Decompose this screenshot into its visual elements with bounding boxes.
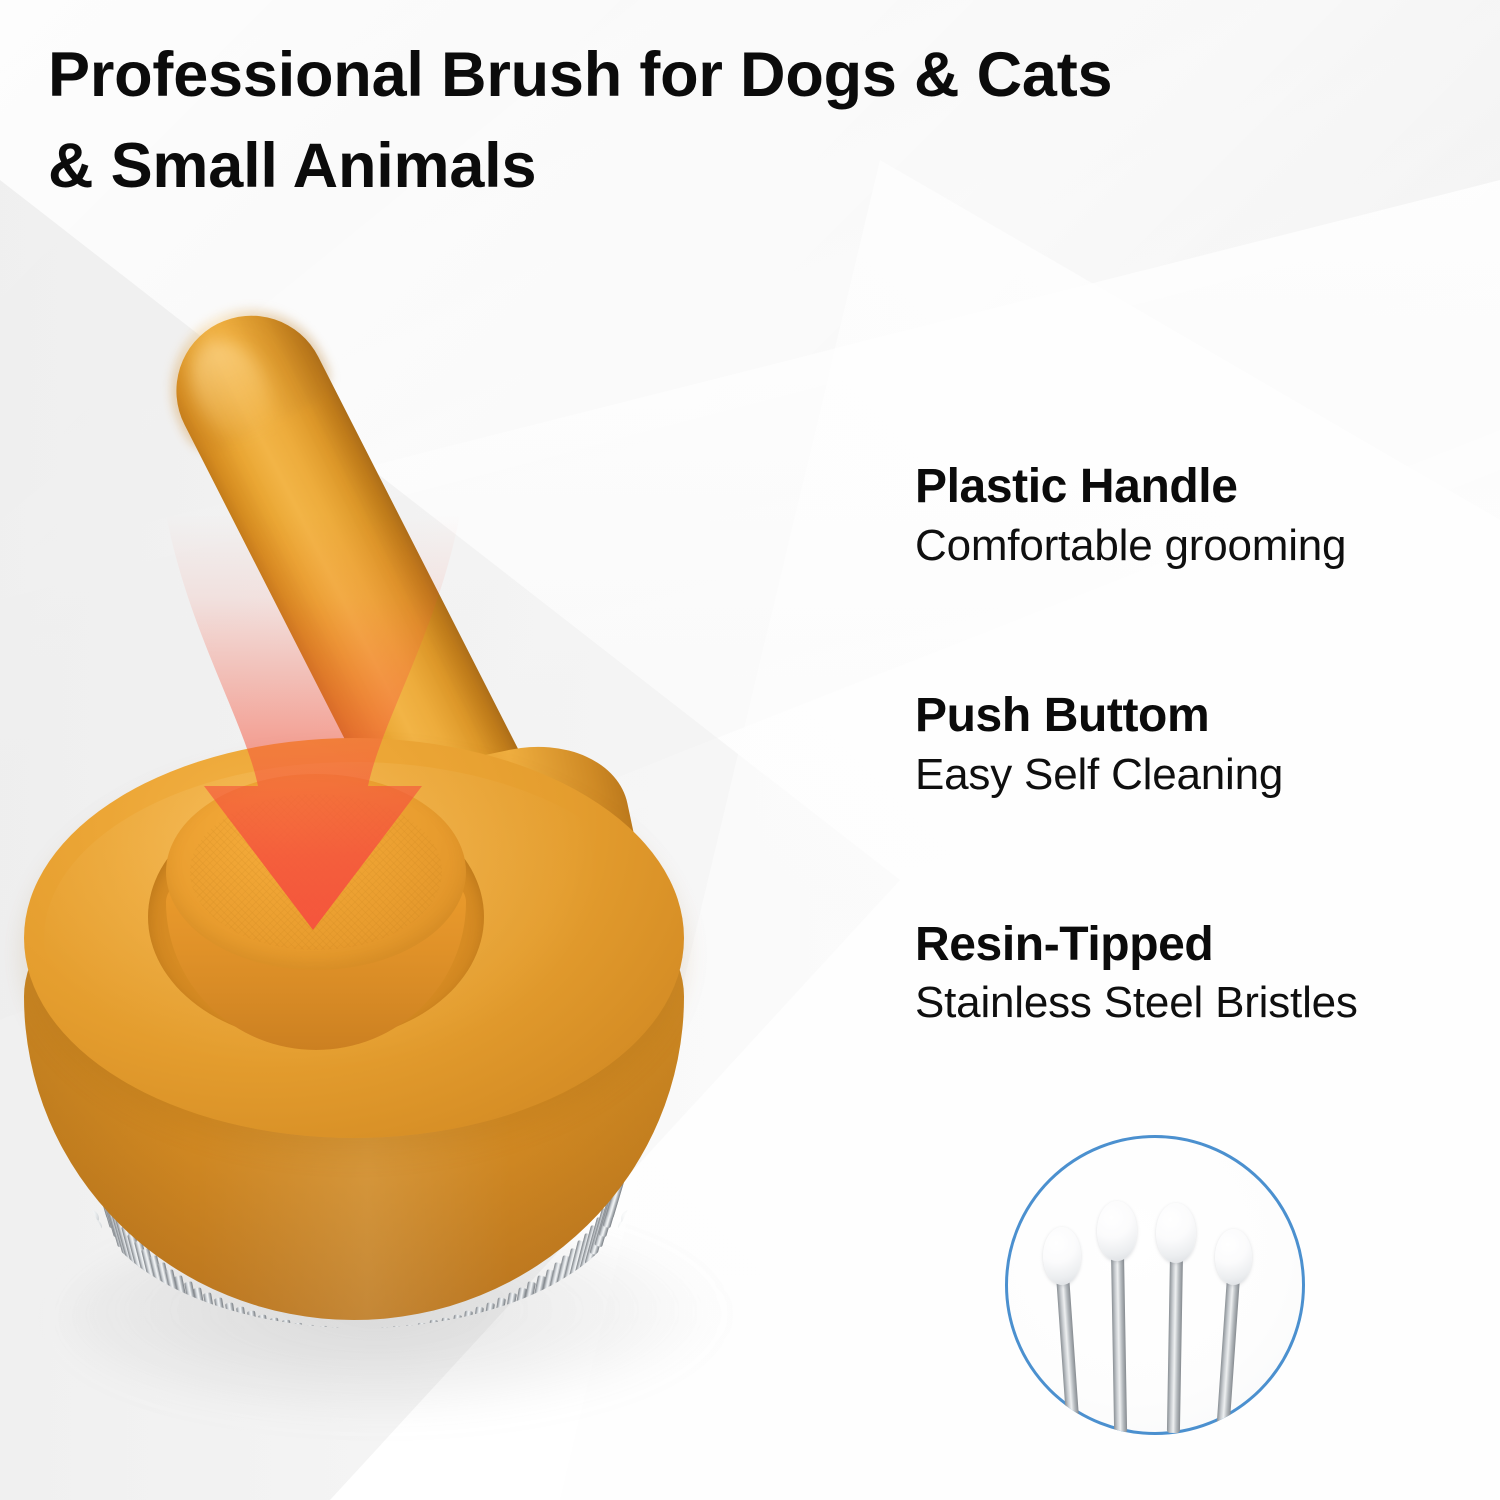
bristle-pin — [306, 1324, 317, 1358]
bristle-tip — [122, 1283, 139, 1300]
bristle-pin — [258, 1314, 272, 1358]
feature-item-plastic-handle: Plastic Handle Comfortable grooming — [915, 460, 1475, 571]
inset-pins — [1005, 1135, 1305, 1435]
resin-pin-shaft — [1166, 1255, 1182, 1433]
bristle-tip — [573, 1291, 590, 1308]
bristle-tip — [519, 1334, 536, 1351]
feature-item-push-button: Push Buttom Easy Self Cleaning — [915, 689, 1475, 800]
bristle-tip — [86, 1219, 102, 1236]
resin-pin-shaft — [1216, 1277, 1239, 1426]
bristle-tip — [115, 1275, 132, 1292]
bristle-pin — [368, 1328, 377, 1358]
bristle-tip — [227, 1356, 244, 1358]
bristle-tip — [498, 1346, 515, 1358]
bristle-pin — [425, 1320, 438, 1358]
bristle-tip — [605, 1248, 622, 1265]
feature-item-resin-tipped: Resin-Tipped Stainless Steel Bristles — [915, 918, 1475, 1029]
bristle-tip — [164, 1321, 181, 1338]
bristle-tip — [174, 1328, 191, 1345]
bristle-tip — [600, 1257, 617, 1274]
resin-pin-shaft — [1111, 1253, 1127, 1433]
bristle-tip — [557, 1307, 574, 1324]
resin-pin-tip — [1097, 1201, 1137, 1261]
bristle-tip — [194, 1340, 211, 1357]
bristle-tip — [184, 1334, 201, 1351]
bristle-tip — [615, 1229, 632, 1246]
bristle-tip — [155, 1314, 172, 1331]
bristle-tip — [205, 1346, 222, 1358]
bristle-tip — [565, 1299, 582, 1316]
bristle-tip — [476, 1356, 493, 1358]
bristle-pin — [402, 1324, 413, 1358]
bristle-tip — [594, 1266, 611, 1283]
bristle-pin — [379, 1327, 389, 1358]
bristle-pin — [331, 1327, 341, 1358]
bristle-tip — [581, 1283, 598, 1300]
resin-pin-tip — [1215, 1229, 1252, 1285]
bristle-tip — [539, 1321, 556, 1338]
bristle-tip — [588, 1275, 605, 1292]
product-infographic: Professional Brush for Dogs & Cats & Sma… — [0, 0, 1500, 1500]
bristle-tip — [138, 1299, 155, 1316]
bristle-pin — [270, 1317, 284, 1358]
bristle-tip — [216, 1351, 233, 1358]
bristle-tip — [93, 1239, 110, 1256]
bristle-tip — [621, 1210, 634, 1227]
resin-pin-tip — [1043, 1227, 1081, 1285]
bristle-closeup-inset — [1005, 1135, 1305, 1435]
bristle-tip — [487, 1351, 504, 1358]
bristle-pin — [414, 1322, 426, 1358]
bristle-tip — [509, 1340, 526, 1357]
bristle-pin — [319, 1326, 329, 1358]
bristle-tip — [109, 1266, 126, 1283]
bristle-tip — [86, 1210, 99, 1227]
bristle-pin — [294, 1322, 306, 1358]
page-title: Professional Brush for Dogs & Cats & Sma… — [48, 30, 1368, 211]
product-image — [0, 210, 960, 1500]
feature-title: Push Buttom — [915, 689, 1475, 743]
bristle-pin — [447, 1314, 461, 1358]
feature-subtitle: Easy Self Cleaning — [915, 749, 1475, 800]
resin-pin-tip — [1156, 1203, 1196, 1263]
bristle-pin — [282, 1320, 295, 1358]
bristle-tip — [146, 1307, 163, 1324]
bristle-pin — [247, 1311, 262, 1358]
feature-subtitle: Stainless Steel Bristles — [915, 977, 1475, 1028]
feature-subtitle: Comfortable grooming — [915, 520, 1475, 571]
bristle-tip — [98, 1248, 115, 1265]
bristle-tip — [610, 1239, 627, 1256]
feature-list: Plastic Handle Comfortable grooming Push… — [915, 460, 1475, 1028]
bristle-tip — [618, 1219, 634, 1236]
bristle-tip — [548, 1314, 565, 1331]
resin-pin-shaft — [1056, 1275, 1079, 1426]
bristle-tip — [130, 1291, 147, 1308]
bristle-tip — [529, 1328, 546, 1345]
feature-title: Plastic Handle — [915, 460, 1475, 514]
bristle-pin — [436, 1317, 450, 1358]
bristle-tip — [103, 1257, 120, 1274]
bristle-tip — [88, 1229, 105, 1246]
bristle-pin — [458, 1311, 473, 1358]
bristle-pin — [344, 1328, 353, 1358]
bristle-pin — [356, 1328, 364, 1358]
bristle-pin — [391, 1326, 401, 1358]
press-down-arrow-icon — [148, 510, 478, 990]
feature-title: Resin-Tipped — [915, 918, 1475, 972]
